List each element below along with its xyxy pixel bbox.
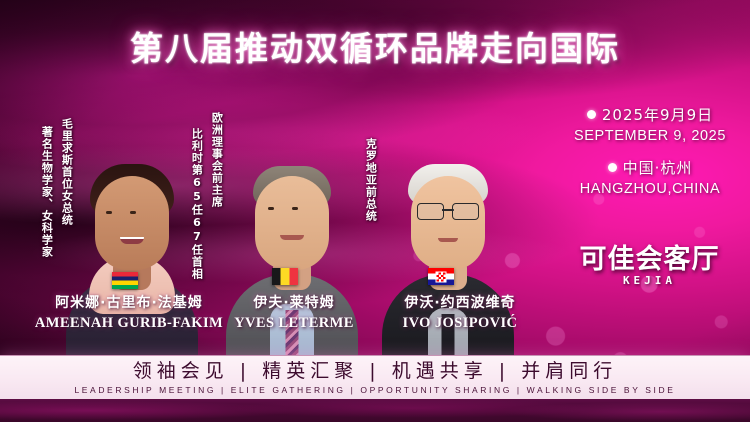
portrait-eye-left bbox=[106, 211, 112, 214]
speaker-1-name-en: AMEENAH GURIB-FAKIM bbox=[14, 315, 244, 332]
speaker-3-name-en: IVO JOSIPOVIĆ bbox=[370, 315, 550, 332]
slogan-en: LEADERSHIP MEETING | ELITE GATHERING | O… bbox=[74, 386, 675, 395]
logo-name-en: KEJIA bbox=[577, 274, 722, 287]
portrait-face bbox=[255, 176, 329, 270]
bullet-dot-icon bbox=[608, 163, 617, 172]
event-date-cn: 2025年9月9日 bbox=[602, 104, 713, 125]
speaker-portrait-yves-leterme bbox=[222, 148, 362, 366]
logo-name-cn: 可佳会客厅 bbox=[577, 246, 722, 273]
portrait-face bbox=[95, 176, 169, 270]
croatia-coat-of-arms-icon bbox=[436, 271, 447, 282]
eyeglasses-icon bbox=[417, 203, 479, 218]
speaker-1-title-line-2: 著名生物学家、女科学家 bbox=[40, 126, 53, 258]
speaker-2-name-en: YVES LETERME bbox=[214, 315, 374, 332]
event-place-cn: 中国·杭州 bbox=[623, 157, 693, 178]
event-date-group: 2025年9月9日 SEPTEMBER 9, 2025 bbox=[560, 104, 740, 144]
footer-strip bbox=[0, 399, 750, 422]
speaker-portrait-ameenah-gurib-fakim bbox=[62, 156, 202, 366]
speaker-2-title-line-2: 比利时第65任67任首相 bbox=[190, 128, 203, 280]
speaker-3-name-block: 伊沃·约西波维奇 IVO JOSIPOVIĆ bbox=[370, 292, 550, 332]
event-place-cn-row: 中国·杭州 bbox=[560, 157, 740, 178]
poster-canvas: 第八届推动双循环品牌走向国际 毛里求斯首位女总统 著名生物学家、女科学家 阿米娜… bbox=[0, 0, 750, 422]
portrait-face bbox=[411, 176, 485, 270]
croatia-flag-icon bbox=[428, 268, 454, 285]
speaker-1-title-line-1: 毛里求斯首位女总统 bbox=[60, 118, 73, 226]
portrait-mouth bbox=[280, 235, 304, 240]
slogan-cn: 领袖会见 | 精英汇聚 | 机遇共享 | 并肩同行 bbox=[133, 362, 617, 381]
portrait-eye-right bbox=[130, 211, 136, 214]
event-place-en: HANGZHOU,CHINA bbox=[560, 181, 740, 197]
kejia-logo: 可佳会客厅 KEJIA bbox=[577, 246, 722, 287]
speaker-2-name-cn: 伊夫·莱特姆 bbox=[214, 292, 374, 312]
event-place-group: 中国·杭州 HANGZHOU,CHINA bbox=[560, 157, 740, 197]
belgium-flag-icon bbox=[272, 268, 298, 285]
speaker-1-name-cn: 阿米娜·古里布·法基姆 bbox=[14, 292, 244, 312]
portrait-mouth bbox=[120, 237, 144, 244]
bullet-dot-icon bbox=[587, 110, 596, 119]
speaker-2-title-line-1: 欧洲理事会前主席 bbox=[210, 112, 223, 208]
speaker-1-name-block: 阿米娜·古里布·法基姆 AMEENAH GURIB-FAKIM bbox=[14, 292, 244, 332]
event-date-en: SEPTEMBER 9, 2025 bbox=[560, 128, 740, 144]
mauritius-flag-icon bbox=[112, 272, 138, 289]
portrait-eye-left bbox=[268, 207, 274, 210]
portrait-mouth bbox=[438, 238, 458, 242]
speaker-3-title-line-1: 克罗地亚前总统 bbox=[364, 138, 377, 222]
speaker-3-name-cn: 伊沃·约西波维奇 bbox=[370, 292, 550, 312]
speaker-portrait-ivo-josipovic bbox=[378, 140, 518, 366]
event-info-block: 2025年9月9日 SEPTEMBER 9, 2025 中国·杭州 HANGZH… bbox=[560, 104, 740, 210]
event-date-cn-row: 2025年9月9日 bbox=[560, 104, 740, 125]
poster-title: 第八届推动双循环品牌走向国际 bbox=[0, 22, 750, 70]
slogan-banner: 领袖会见 | 精英汇聚 | 机遇共享 | 并肩同行 LEADERSHIP MEE… bbox=[0, 355, 750, 401]
portrait-eye-right bbox=[292, 207, 298, 210]
speaker-2-name-block: 伊夫·莱特姆 YVES LETERME bbox=[214, 292, 374, 332]
